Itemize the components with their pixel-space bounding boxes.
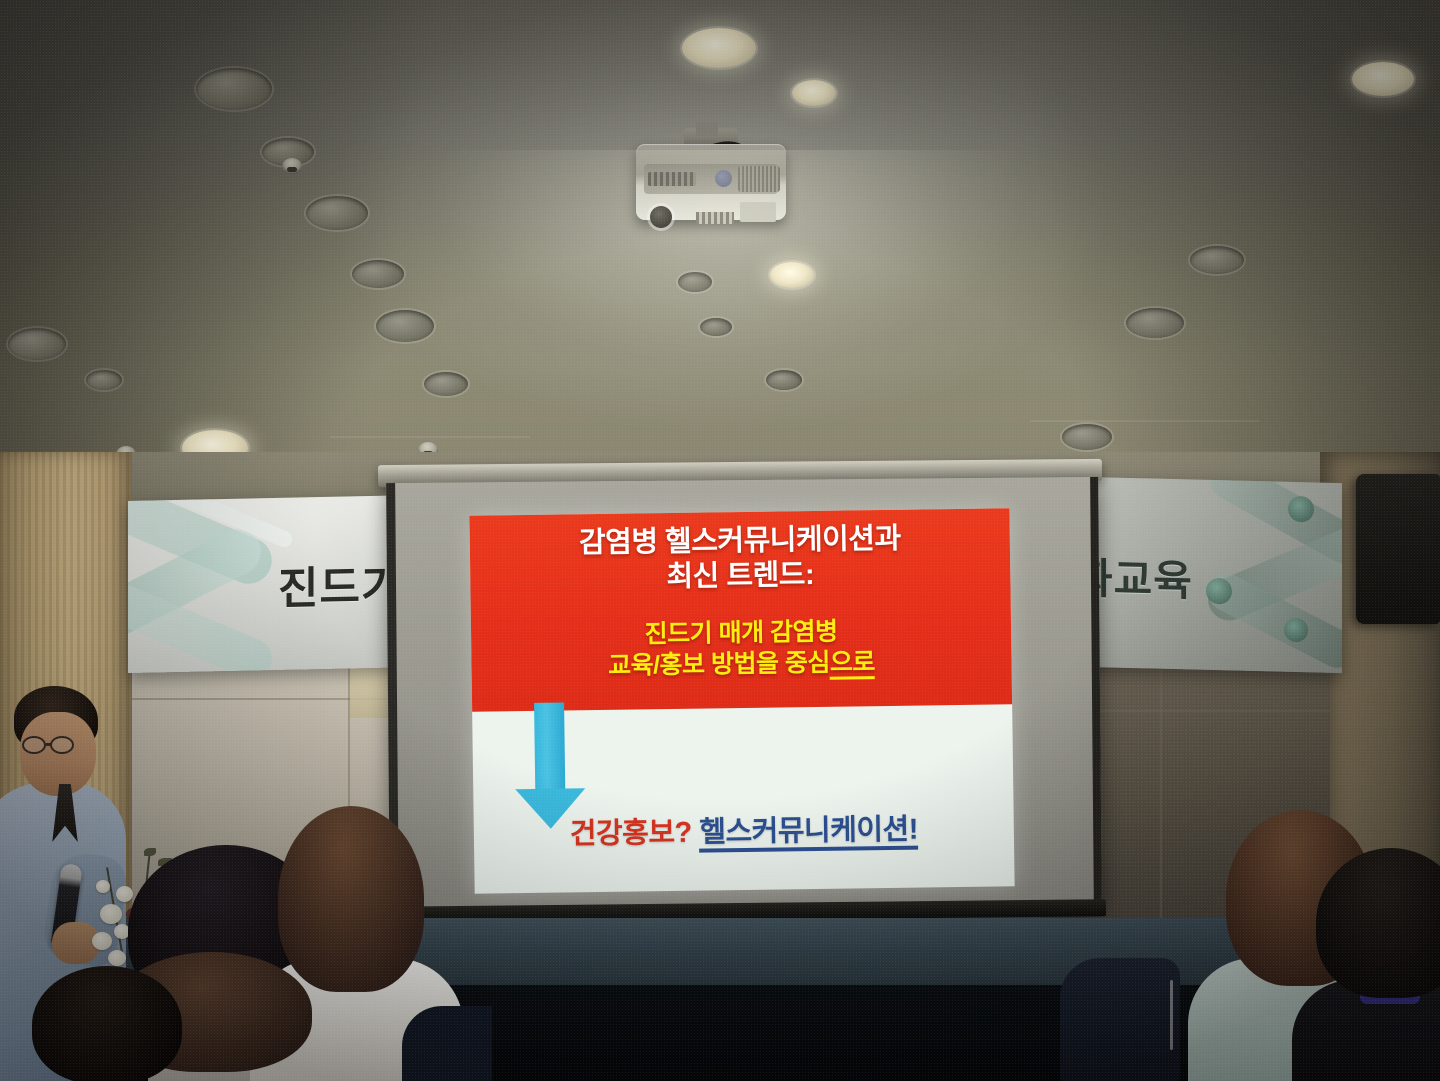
banner-right-text: 화교육 [1084,545,1193,609]
ceiling-downlight-icon [1126,308,1184,338]
arrow-stem [534,703,565,795]
ceiling-downlight-icon [770,262,814,288]
audience-hair [1316,848,1440,998]
chair [1060,958,1180,1081]
ceiling-downlight-icon [352,260,404,288]
ceiling-seam [330,436,530,438]
ceiling-downlight-icon [1190,246,1244,274]
glasses-icon [22,736,46,754]
banner-right: 화교육 [1084,477,1342,673]
projection-screen: 감염병 헬스커뮤니케이션과 최신 트렌드: 진드기 매개 감염병 교육/홍보 방… [386,477,1102,915]
flower-bloom [92,932,112,950]
projector-body [636,144,786,220]
glasses-bridge [46,743,52,746]
projector-lens-icon [650,206,672,228]
ceiling-speaker-icon [8,328,66,360]
slide-bottom-line: 건강홍보? 헬스커뮤니케이션! [474,804,1015,854]
projector-mount-arm [696,122,718,136]
wall-speaker [1356,474,1440,624]
glasses-icon [50,736,74,754]
banner-dot-icon [1206,578,1232,605]
audience-member [32,966,172,1081]
slide-bottom-answer: 헬스커뮤니케이션! [699,814,918,853]
ceiling-downlight-icon [86,370,122,390]
audience-hair [32,966,182,1081]
slide-subtitle-plain: 교육/홍보 방법을 중심 [608,649,830,680]
ceiling-seam [1030,420,1260,422]
audience-chair-back [402,1006,492,1081]
photo-scene: 진드기 화교육 감염병 헬스커뮤니케이션과 최신 트렌드: 진드기 매개 감염병… [0,0,1440,1081]
ceiling-downlight-icon [1352,62,1414,96]
ceiling-downlight-icon [792,80,836,106]
slide-subtitle: 진드기 매개 감염병 교육/홍보 방법을 중심으로 [471,614,1012,684]
banner-left: 진드기 [128,495,418,673]
presenter-face [20,712,96,796]
panel-seam [1160,640,1162,940]
slide-title: 감염병 헬스커뮤니케이션과 최신 트렌드: [470,520,1011,597]
projector-ports [648,172,696,186]
projector-vent [738,166,780,192]
chair-edge [1170,980,1173,1050]
slide-subtitle-underlined: 으로 [830,648,875,680]
audience-member [1316,848,1440,1081]
projector [636,128,786,220]
banner-dot-icon [1288,496,1314,523]
flower-bloom [100,904,122,924]
projector-dial-icon [715,170,732,187]
ceiling-downlight-icon [766,370,802,390]
ceiling-downlight-icon [376,310,434,342]
ceiling-downlight-icon [682,28,756,68]
projected-slide: 감염병 헬스커뮤니케이션과 최신 트렌드: 진드기 매개 감염병 교육/홍보 방… [469,508,1014,894]
banner-left-text: 진드기 [278,550,402,617]
ceiling-downlight-icon [1062,424,1112,450]
projector-grill [696,212,734,224]
banner-dot-icon [1284,618,1308,643]
ceiling-speaker-icon [306,196,368,230]
ceiling-downlight-icon [678,272,712,292]
ceiling-downlight-icon [700,318,732,336]
flower-bloom [96,880,110,893]
sprinkler-icon [282,158,302,174]
slide-bottom-question: 건강홍보? [570,817,692,851]
ceiling-downlight-icon [424,372,468,396]
ceiling-speaker-icon [196,68,272,110]
projector-label-plate [740,202,776,222]
